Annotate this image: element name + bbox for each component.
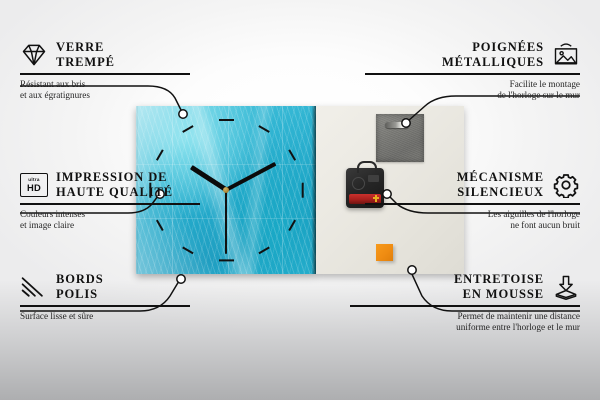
clock-second-hand xyxy=(225,190,227,254)
callout-bords-polis: BORDS POLIS Surface lisse et sûre xyxy=(20,272,190,322)
callout-title-line2: TREMPÉ xyxy=(56,55,115,70)
callout-rule xyxy=(20,305,190,307)
callout-title: MÉCANISME SILENCIEUX xyxy=(457,170,544,200)
callout-rule xyxy=(20,203,200,205)
callout-title-line2: POLIS xyxy=(56,287,104,302)
clock-tick xyxy=(288,149,296,161)
callout-title: BORDS POLIS xyxy=(56,272,104,302)
callout-verre-trempe: VERRE TREMPÉ Résistant aux bris et aux é… xyxy=(20,40,190,101)
gear-icon xyxy=(552,172,580,198)
callout-title-line1: BORDS xyxy=(56,272,104,287)
callout-title: VERRE TREMPÉ xyxy=(56,40,115,70)
clock-tick xyxy=(219,119,234,121)
diamond-icon xyxy=(20,42,48,68)
callout-rule xyxy=(20,73,190,75)
callout-title: ENTRETOISE EN MOUSSE xyxy=(454,272,544,302)
callout-desc-line1: Résistant aux bris xyxy=(20,79,190,90)
callout-desc-line1: Couleurs intenses xyxy=(20,209,200,220)
callout-desc-line2: et aux égratignures xyxy=(20,90,190,101)
callout-desc-line1: Surface lisse et sûre xyxy=(20,311,190,322)
clock-tick xyxy=(156,149,164,161)
clock-center-pin xyxy=(223,187,229,193)
clock-tick xyxy=(258,125,270,133)
callout-desc-line2: ne font aucun bruit xyxy=(365,220,580,231)
callout-desc-line1: Permet de maintenir une distance xyxy=(350,311,580,322)
clock-minute-hand xyxy=(225,162,276,192)
callout-title: IMPRESSION DE HAUTE QUALITÉ xyxy=(56,170,173,200)
callout-header: ENTRETOISE EN MOUSSE xyxy=(350,272,580,302)
ultra-hd-icon: ultra HD xyxy=(20,173,48,197)
clock-tick xyxy=(182,125,194,133)
callout-title-line2: MÉTALLIQUES xyxy=(442,55,544,70)
callout-rule xyxy=(350,305,580,307)
callout-desc-line1: Facilite le montage xyxy=(365,79,580,90)
callout-title-line2: SILENCIEUX xyxy=(457,185,544,200)
callout-impression-haute-qualite: ultra HD IMPRESSION DE HAUTE QUALITÉ Cou… xyxy=(20,170,200,231)
callout-entretoise-en-mousse: ENTRETOISE EN MOUSSE Permet de maintenir… xyxy=(350,272,580,333)
callout-title: POIGNÉES MÉTALLIQUES xyxy=(442,40,544,70)
metal-hanger-plate xyxy=(376,114,424,162)
callout-desc-line2: de l'horloge sur le mur xyxy=(365,90,580,101)
callout-desc-line2: et image claire xyxy=(20,220,200,231)
clock-tick xyxy=(288,219,296,231)
callout-header: MÉCANISME SILENCIEUX xyxy=(365,170,580,200)
clock-tick xyxy=(258,247,270,255)
framed-picture-hook-icon xyxy=(552,42,580,68)
infographic-canvas: VERRE TREMPÉ Résistant aux bris et aux é… xyxy=(0,0,600,400)
callout-header: ultra HD IMPRESSION DE HAUTE QUALITÉ xyxy=(20,170,200,200)
callout-title-line1: POIGNÉES xyxy=(442,40,544,55)
foam-spacer xyxy=(376,244,393,261)
foam-spacer-arrow-icon xyxy=(552,274,580,300)
callout-mecanisme-silencieux: MÉCANISME SILENCIEUX Les aiguilles de l'… xyxy=(365,170,580,231)
callout-desc-line2: uniforme entre l'horloge et le mur xyxy=(350,322,580,333)
callout-desc-line1: Les aiguilles de l'horloge xyxy=(365,209,580,220)
callout-title-line2: HAUTE QUALITÉ xyxy=(56,185,173,200)
callout-poignees-metalliques: POIGNÉES MÉTALLIQUES Facilite le montage… xyxy=(365,40,580,101)
ultra-hd-icon-large-text: HD xyxy=(27,183,41,192)
callout-rule xyxy=(365,73,580,75)
polished-edges-icon xyxy=(20,274,48,300)
callout-header: POIGNÉES MÉTALLIQUES xyxy=(365,40,580,70)
callout-header: VERRE TREMPÉ xyxy=(20,40,190,70)
clock-tick xyxy=(219,259,234,261)
hanger-slot xyxy=(385,122,409,128)
mechanism-knob xyxy=(352,177,365,190)
callout-header: BORDS POLIS xyxy=(20,272,190,302)
callout-title-line1: MÉCANISME xyxy=(457,170,544,185)
callout-title-line1: IMPRESSION DE xyxy=(56,170,173,185)
callout-title-line1: VERRE xyxy=(56,40,115,55)
clock-tick xyxy=(301,182,303,197)
callout-title-line1: ENTRETOISE xyxy=(454,272,544,287)
callout-rule xyxy=(365,203,580,205)
callout-title-line2: EN MOUSSE xyxy=(454,287,544,302)
clock-tick xyxy=(182,247,194,255)
